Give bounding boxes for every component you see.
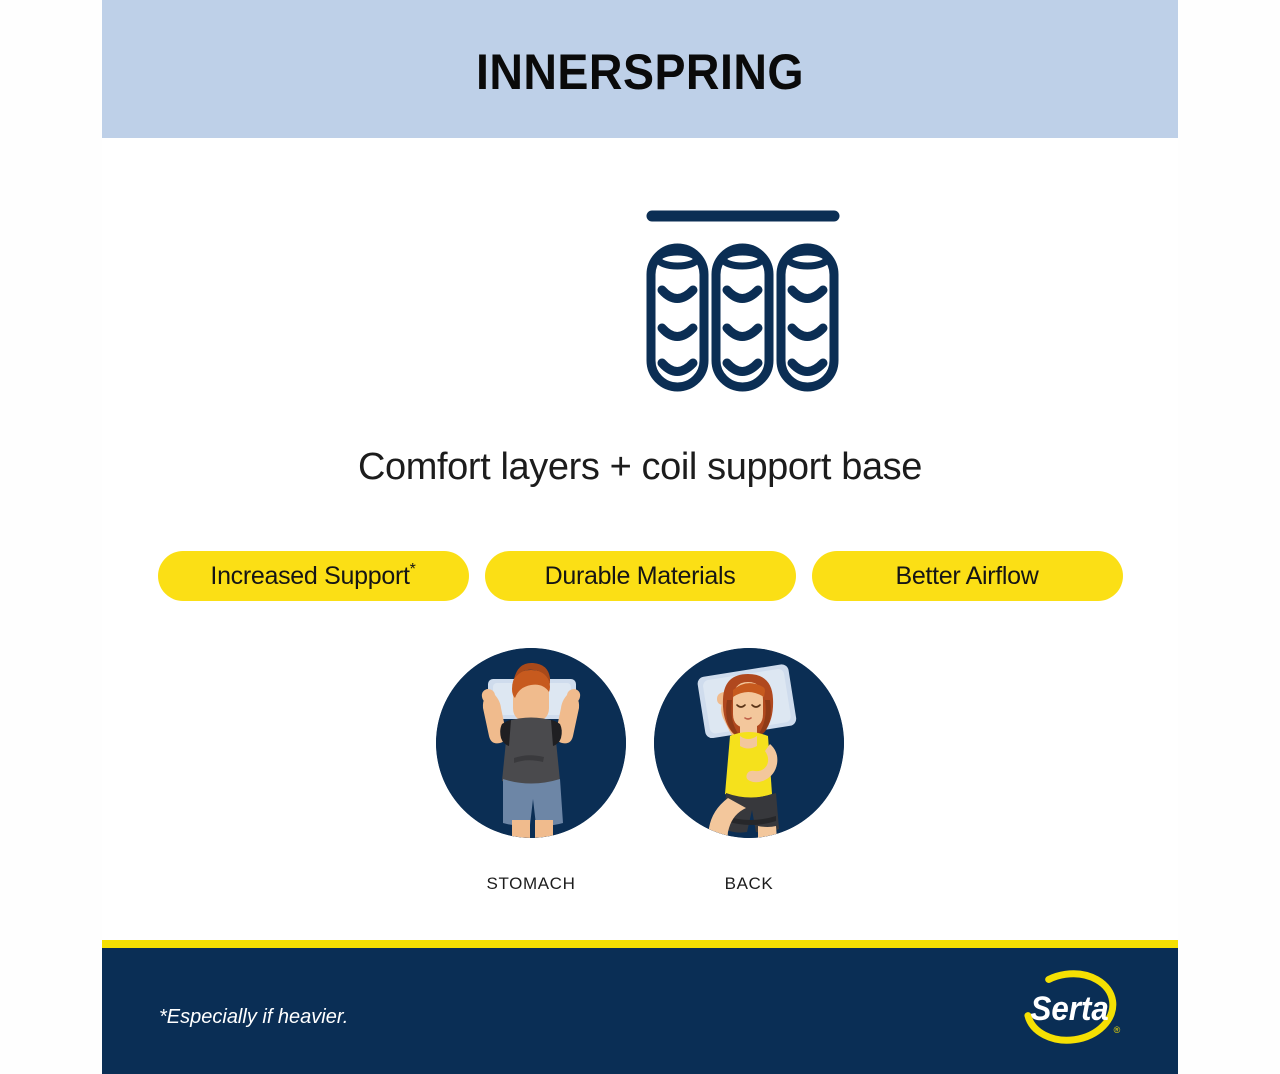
subtitle-text: Comfort layers + coil support base <box>102 446 1178 489</box>
footer-accent-rule <box>102 940 1178 948</box>
benefit-label: Increased Support <box>210 562 409 591</box>
back-sleeper-avatar <box>654 648 844 838</box>
benefit-pill-increased-support[interactable]: Increased Support* <box>158 551 469 601</box>
sleep-position-label: BACK <box>654 874 844 894</box>
footer: *Especially if heavier. Serta ® <box>102 948 1178 1074</box>
innerspring-info-card: INNERSPRING <box>102 0 1178 1074</box>
footnote-text: *Especially if heavier. <box>159 1006 348 1029</box>
stomach-sleeper-avatar <box>436 648 626 838</box>
benefit-label: Better Airflow <box>895 562 1038 591</box>
svg-text:®: ® <box>1114 1025 1121 1035</box>
sleep-positions-row: STOMACH <box>102 648 1178 894</box>
sleep-position-stomach: STOMACH <box>436 648 626 894</box>
page-root: INNERSPRING <box>0 0 1280 1074</box>
benefit-pill-durable-materials[interactable]: Durable Materials <box>485 551 796 601</box>
coil-springs-icon <box>640 205 846 397</box>
sleep-position-label: STOMACH <box>436 874 626 894</box>
sleep-position-back: BACK <box>654 648 844 894</box>
benefit-pill-better-airflow[interactable]: Better Airflow <box>812 551 1123 601</box>
svg-text:Serta: Serta <box>1031 989 1109 1028</box>
header-band: INNERSPRING <box>102 0 1178 138</box>
page-title: INNERSPRING <box>140 43 1141 101</box>
benefit-label: Durable Materials <box>545 562 736 591</box>
benefits-row: Increased Support* Durable Materials Bet… <box>102 551 1178 601</box>
serta-logo[interactable]: Serta ® <box>1020 968 1128 1046</box>
